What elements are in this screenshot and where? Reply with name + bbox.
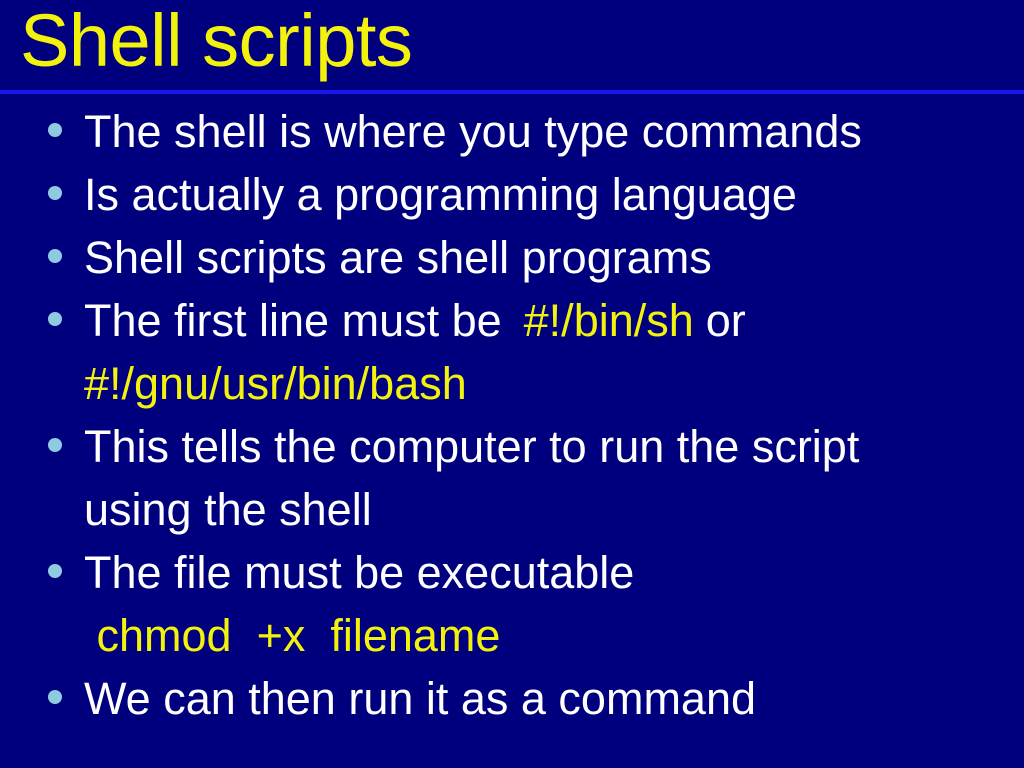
bullet-dot-icon [48,312,62,326]
bullet-dot-icon [48,438,62,452]
bullet-dot-icon [48,564,62,578]
list-item: The shell is where you type commands [0,100,1024,163]
bullet-text: The first line must be#!/bin/shor [84,289,1024,352]
list-item: The first line must be#!/bin/shor #!/gnu… [0,289,1024,415]
list-item: Is actually a programming language [0,163,1024,226]
bullet-text: The file must be executable [84,541,1024,604]
bullet-dot-icon [48,186,62,200]
slide-title-area: Shell scripts [0,0,1024,90]
title-divider-rule [0,90,1024,94]
list-item: The file must be executable chmod +x fil… [0,541,1024,667]
bullet-text: This tells the computer to run the scrip… [84,415,1024,478]
bullet-text-trail: or [706,295,746,346]
continuation-line-chmod-command: chmod +x filename [84,604,1024,667]
continuation-line: using the shell [84,478,1024,541]
list-item: We can then run it as a command [0,667,1024,730]
bullet-text: The shell is where you type commands [84,100,1024,163]
bullet-text: We can then run it as a command [84,667,1024,730]
list-item: Shell scripts are shell programs [0,226,1024,289]
bullet-dot-icon [48,249,62,263]
slide-canvas: Shell scripts The shell is where you typ… [0,0,1024,768]
page-title: Shell scripts [20,0,412,86]
bullet-list: The shell is where you type commands Is … [0,100,1024,730]
bullet-dot-icon [48,123,62,137]
bullet-dot-icon [48,690,62,704]
bullet-text: Shell scripts are shell programs [84,226,1024,289]
bullet-text-lead: The first line must be [84,295,502,346]
list-item: This tells the computer to run the scrip… [0,415,1024,541]
continuation-line-shebang-bash: #!/gnu/usr/bin/bash [84,352,1024,415]
bullet-text: Is actually a programming language [84,163,1024,226]
inline-code-shebang-sh: #!/bin/sh [524,295,694,346]
